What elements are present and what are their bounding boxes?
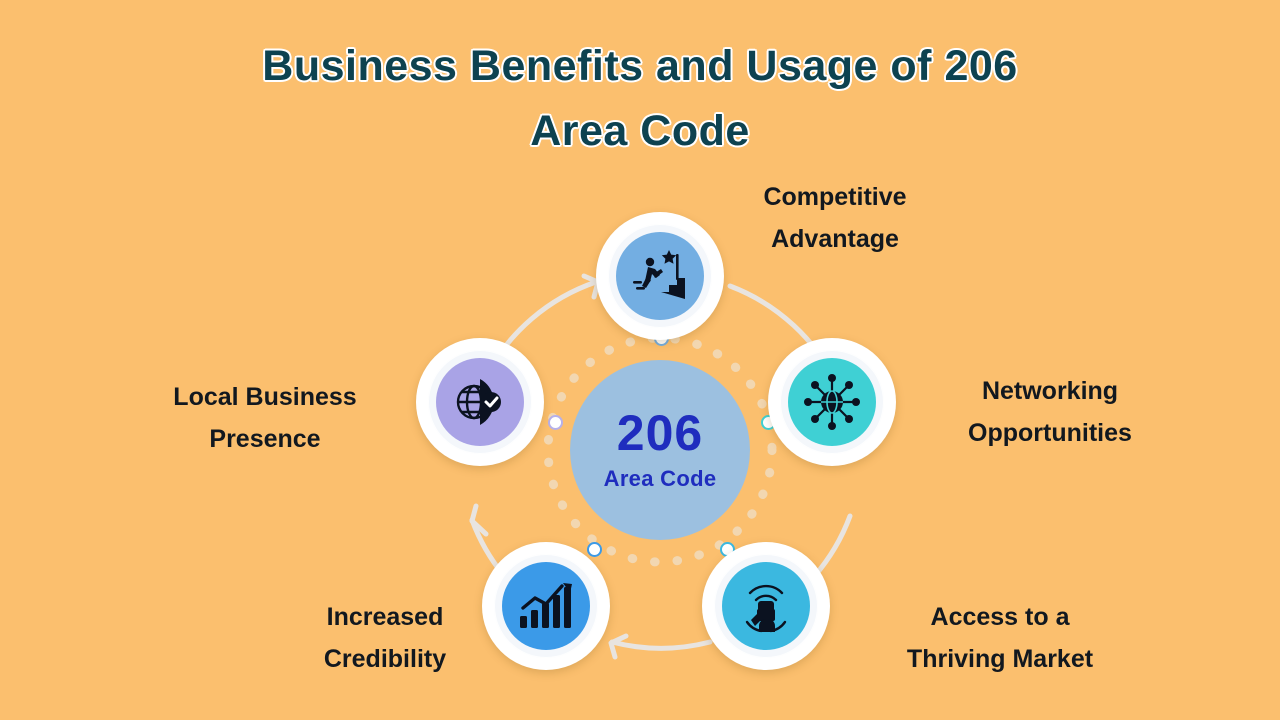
label-networking-opportunities: Networking Opportunities	[900, 370, 1200, 454]
label-line-1: Networking	[900, 370, 1200, 412]
label-competitive-advantage: Competitive Advantage	[700, 176, 970, 260]
connector-dot-local	[548, 415, 563, 430]
connector-dot-credibility	[587, 542, 602, 557]
label-increased-credibility: Increased Credibility	[240, 596, 530, 680]
label-line-1: Increased	[240, 596, 530, 638]
node-networking-opportunities[interactable]	[768, 338, 896, 466]
network-globe-nodes-icon	[788, 358, 876, 446]
node-inner-ring	[608, 224, 712, 328]
label-line-2: Presence	[120, 418, 410, 460]
label-local-business-presence: Local Business Presence	[120, 376, 410, 460]
infographic-canvas: Business Benefits and Usage of 206 Area …	[0, 0, 1280, 720]
node-local-business-presence[interactable]	[416, 338, 544, 466]
hub-caption: Area Code	[604, 466, 717, 492]
node-inner-ring	[428, 350, 532, 454]
hub-number: 206	[617, 408, 703, 458]
person-climbing-stairs-star-icon	[616, 232, 704, 320]
page-title-line-1: Business Benefits and Usage of 206	[0, 34, 1280, 99]
label-line-2: Advantage	[700, 218, 970, 260]
page-title: Business Benefits and Usage of 206 Area …	[0, 34, 1280, 165]
label-line-2: Opportunities	[900, 412, 1200, 454]
node-inner-ring	[780, 350, 884, 454]
label-line-2: Credibility	[240, 638, 530, 680]
label-line-1: Competitive	[700, 176, 970, 218]
label-line-1: Access to a	[855, 596, 1145, 638]
label-line-2: Thriving Market	[855, 638, 1145, 680]
label-line-1: Local Business	[120, 376, 410, 418]
globe-check-icon	[436, 358, 524, 446]
node-inner-ring	[714, 554, 818, 658]
hand-touch-signal-icon	[722, 562, 810, 650]
center-hub: 206 Area Code	[570, 360, 750, 540]
node-access-to-thriving-market[interactable]	[702, 542, 830, 670]
page-title-line-2: Area Code	[0, 99, 1280, 164]
label-access-to-thriving-market: Access to a Thriving Market	[855, 596, 1145, 680]
